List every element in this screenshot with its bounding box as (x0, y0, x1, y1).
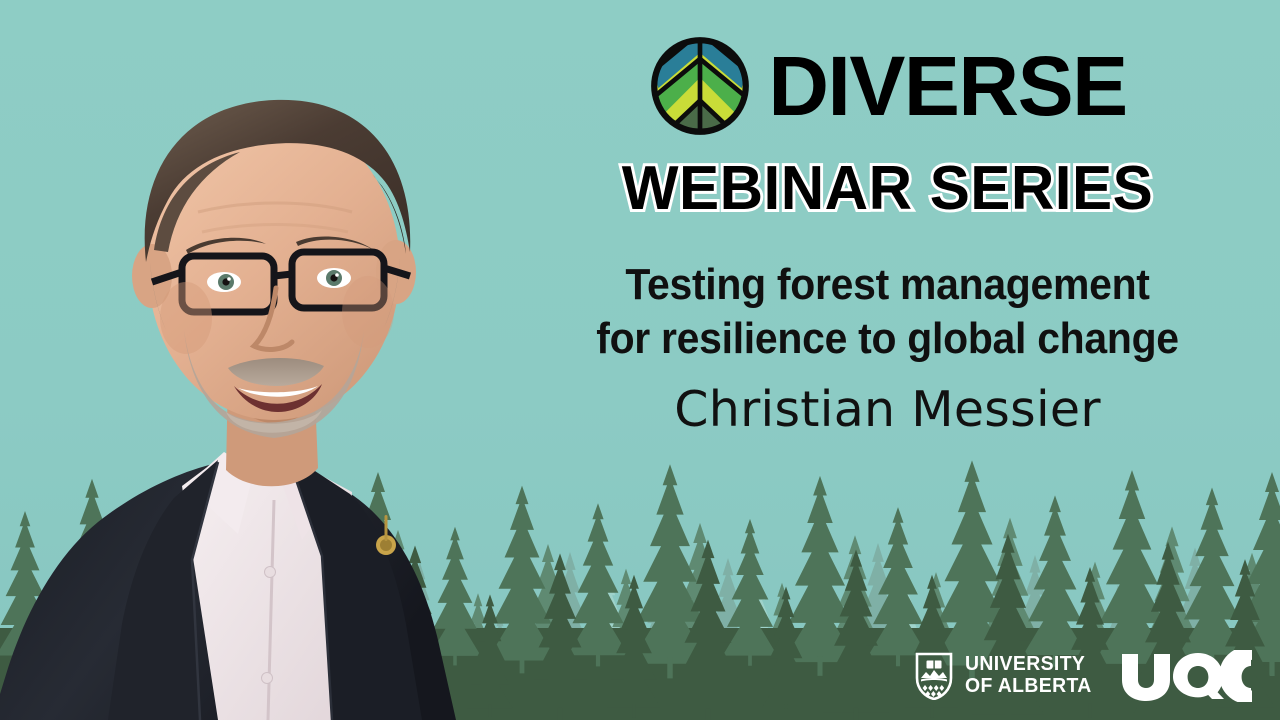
uqo-logo (1120, 650, 1252, 702)
university-of-alberta-logo: UNIVERSITY OF ALBERTA (915, 652, 1094, 700)
ua-wordmark: UNIVERSITY OF ALBERTA (965, 654, 1092, 697)
diverse-brand-lockup: DIVERSE (495, 34, 1280, 138)
ua-shield-crest-icon (915, 652, 953, 700)
ua-wordmark-line-2: OF ALBERTA (965, 676, 1092, 698)
talk-title-line-1: Testing forest management (522, 258, 1252, 312)
speaker-name: Christian Messier (495, 383, 1280, 437)
diverse-chevron-circle-logo-icon (648, 34, 752, 138)
talk-title-line-2: for resilience to global change (522, 312, 1252, 366)
talk-title: Testing forest management for resilience… (522, 258, 1252, 365)
webinar-promo-poster: DIVERSE WEBINAR SERIES Testing forest ma… (0, 0, 1280, 720)
diverse-wordmark: DIVERSE (768, 47, 1126, 126)
webinar-series-heading: WEBINAR SERIES (507, 156, 1268, 221)
ua-wordmark-line-1: UNIVERSITY (965, 654, 1092, 676)
content-column: DIVERSE WEBINAR SERIES Testing forest ma… (495, 0, 1280, 720)
partner-logos: UNIVERSITY OF ALBERTA (915, 650, 1252, 702)
